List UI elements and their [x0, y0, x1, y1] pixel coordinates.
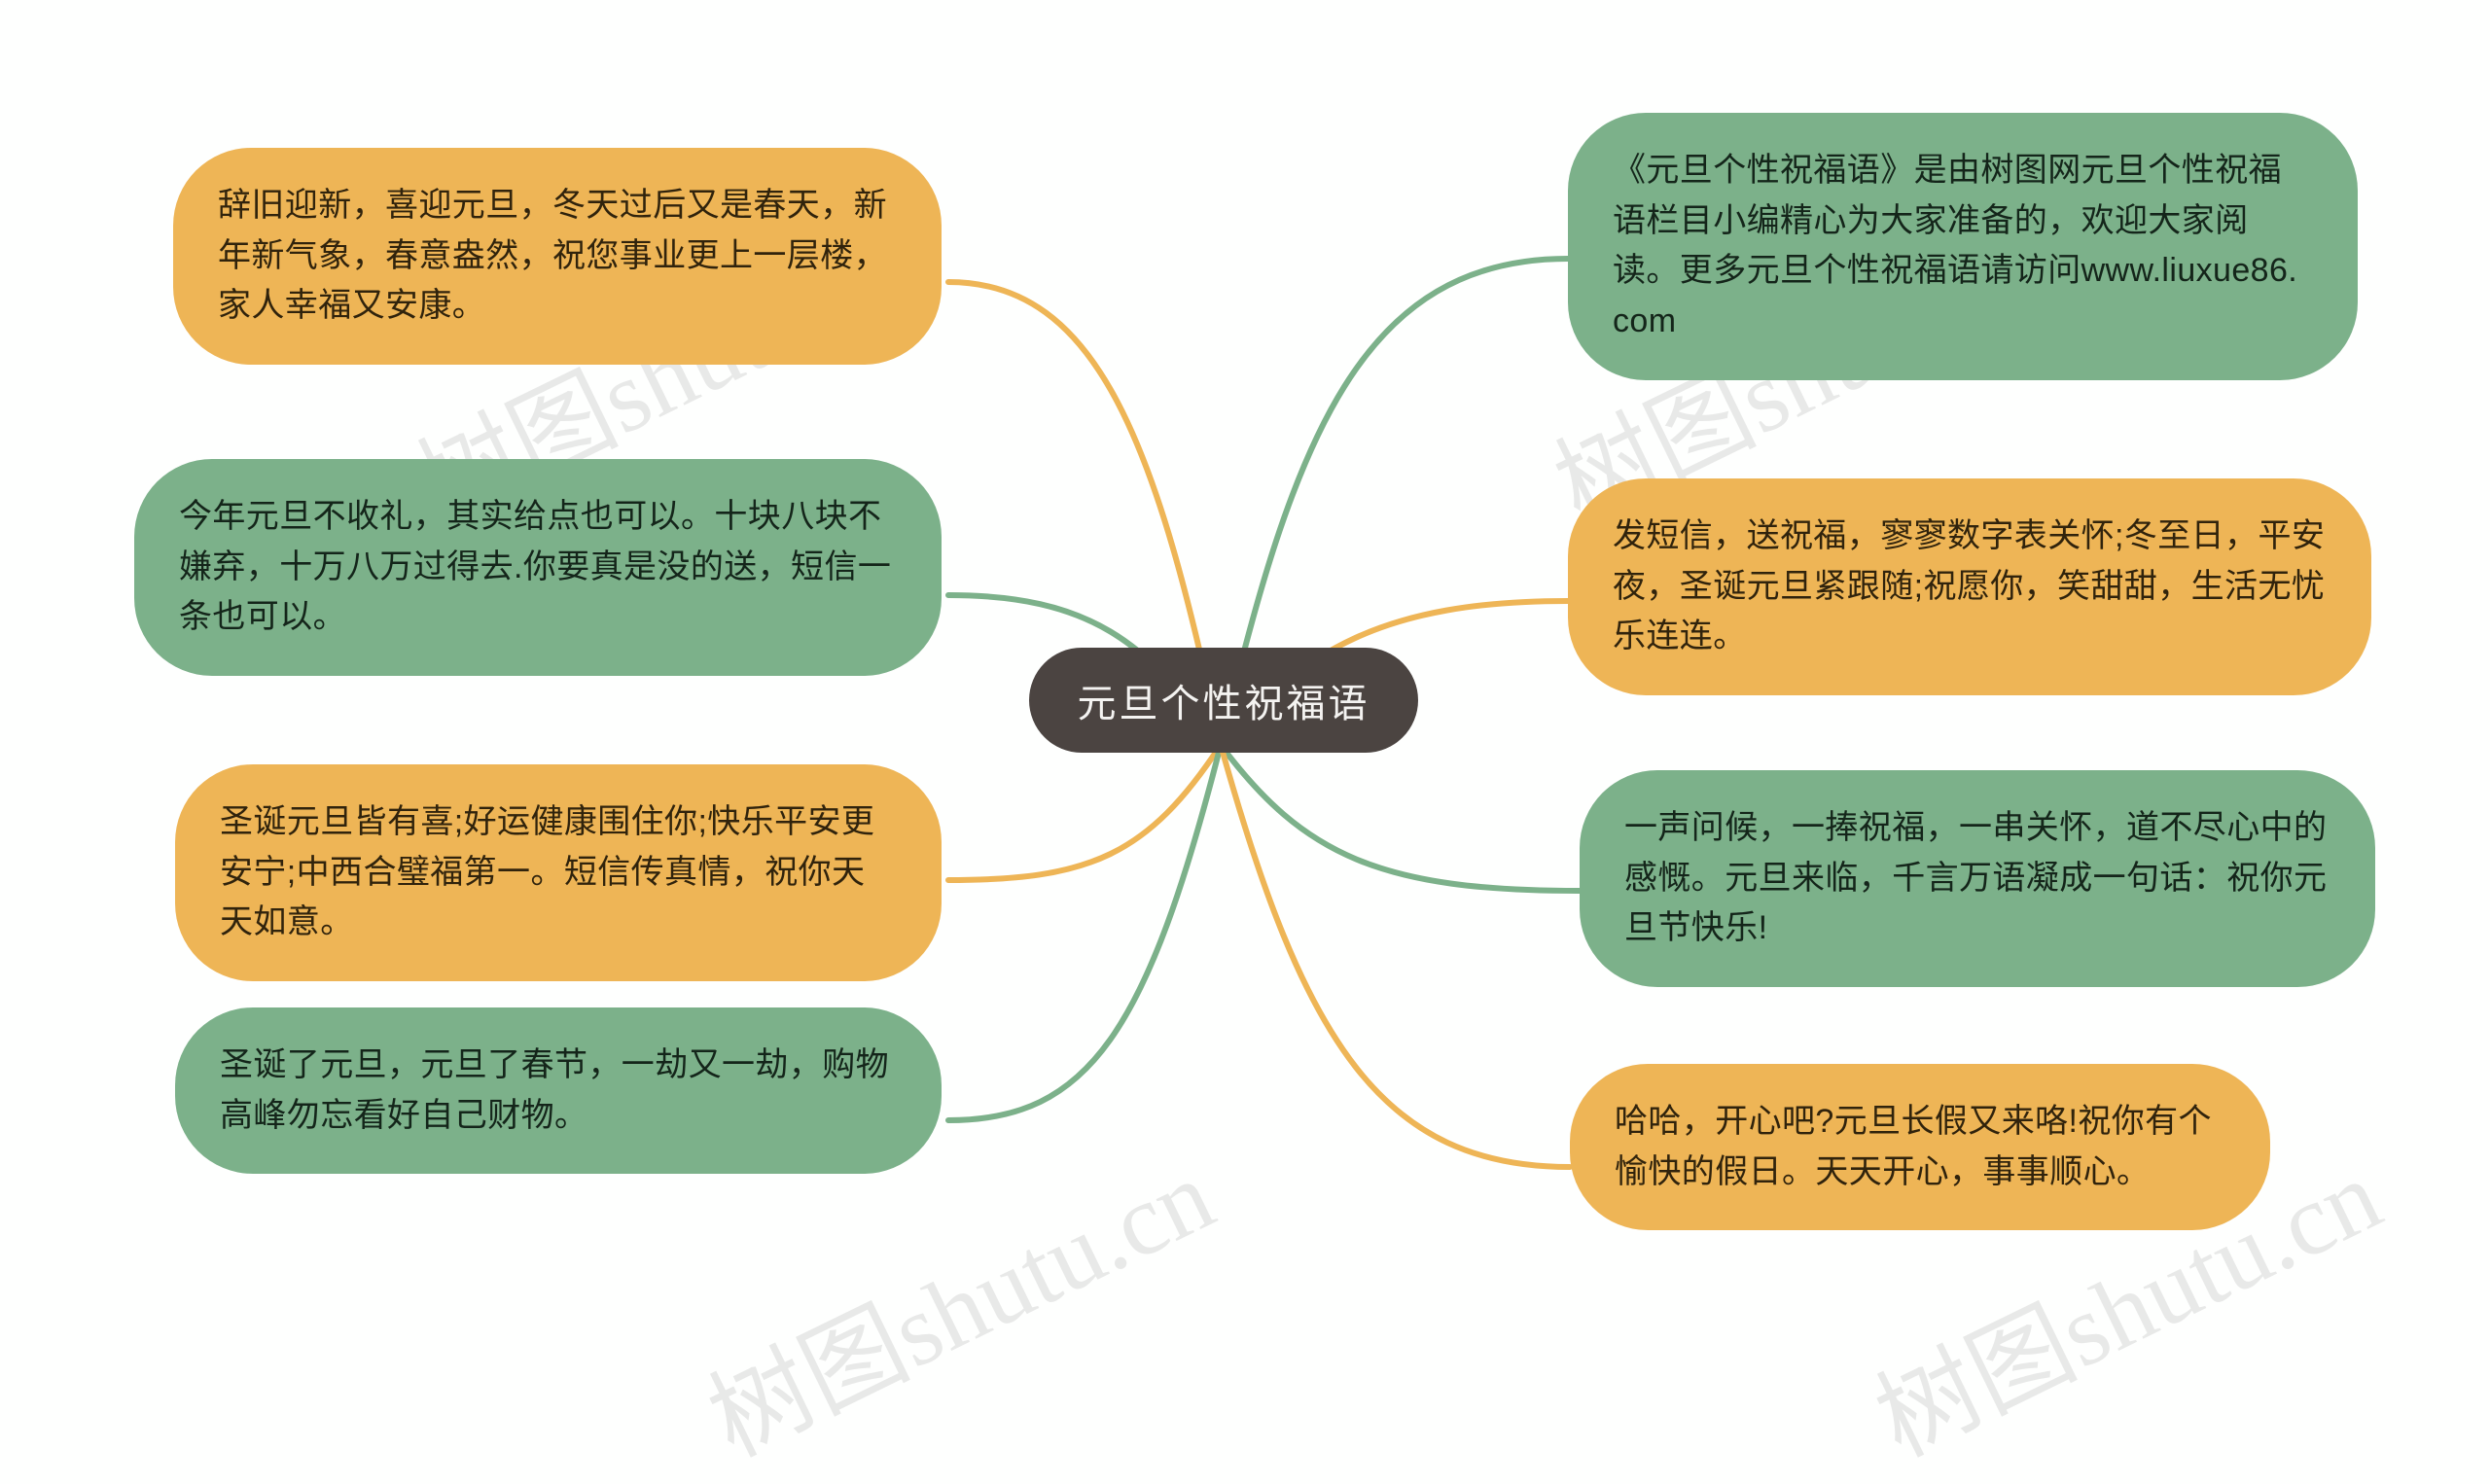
branch-node-text: 今年元旦不收礼，其实给点也可以。十块八块不嫌弃，十万八万过得去.你要真是没的送，…	[179, 492, 897, 643]
branch-node-right-2[interactable]: 发短信，送祝福，寥寥数字表关怀;冬至日，平安夜，圣诞元旦紧跟随;祝愿你，笑甜甜，…	[1568, 478, 2371, 695]
branch-node-left-2[interactable]: 今年元旦不收礼，其实给点也可以。十块八块不嫌弃，十万八万过得去.你要真是没的送，…	[134, 459, 942, 676]
branch-node-text: 一声问候，一捧祝福，一串关怀，道不尽心中的感慨。元旦来临，千言万语凝成一句话：祝…	[1624, 803, 2330, 954]
branch-node-left-4[interactable]: 圣诞了元旦，元旦了春节，一劫又一劫，购物高峰勿忘看好自己财物。	[175, 1007, 942, 1174]
root-node[interactable]: 元旦个性祝福语	[1029, 648, 1418, 753]
connector-r3	[1221, 745, 1580, 891]
branch-node-right-1[interactable]: 《元旦个性祝福语》是由树图网元旦个性祝福语栏目小编精心为大家准备的，欢迎大家阅读…	[1568, 113, 2358, 380]
branch-node-text: 发短信，送祝福，寥寥数字表关怀;冬至日，平安夜，圣诞元旦紧跟随;祝愿你，笑甜甜，…	[1613, 512, 2327, 662]
branch-node-right-4[interactable]: 哈哈，开心吧?元旦长假又来咯!祝你有个愉快的假日。天天开心，事事顺心。	[1570, 1064, 2270, 1230]
branch-node-text: 哈哈，开心吧?元旦长假又来咯!祝你有个愉快的假日。天天开心，事事顺心。	[1615, 1097, 2225, 1197]
branch-node-left-1[interactable]: 辞旧迎新，喜迎元旦，冬天过后又是春天，新年新气象，春意盎然，祝您事业更上一层楼，…	[173, 148, 942, 365]
branch-node-text: 圣诞了元旦，元旦了春节，一劫又一劫，购物高峰勿忘看好自己财物。	[220, 1041, 897, 1141]
branch-node-text: 辞旧迎新，喜迎元旦，冬天过后又是春天，新年新气象，春意盎然，祝您事业更上一层楼，…	[218, 181, 897, 332]
branch-node-text: 《元旦个性祝福语》是由树图网元旦个性祝福语栏目小编精心为大家准备的，欢迎大家阅读…	[1613, 146, 2313, 347]
connector-l3	[948, 745, 1221, 880]
branch-node-text: 圣诞元旦皆有喜;好运健康围住你;快乐平安更安宁;中西合璧福第一。短信传真情，祝你…	[220, 797, 897, 948]
branch-node-left-3[interactable]: 圣诞元旦皆有喜;好运健康围住你;快乐平安更安宁;中西合璧福第一。短信传真情，祝你…	[175, 764, 942, 981]
root-node-label: 元旦个性祝福语	[1078, 672, 1370, 728]
mindmap-canvas: 树图shutu.cn 树图shutu.cn 树图shutu.cn 树图shutu…	[0, 0, 2490, 1372]
branch-node-right-3[interactable]: 一声问候，一捧祝福，一串关怀，道不尽心中的感慨。元旦来临，千言万语凝成一句话：祝…	[1580, 770, 2375, 987]
